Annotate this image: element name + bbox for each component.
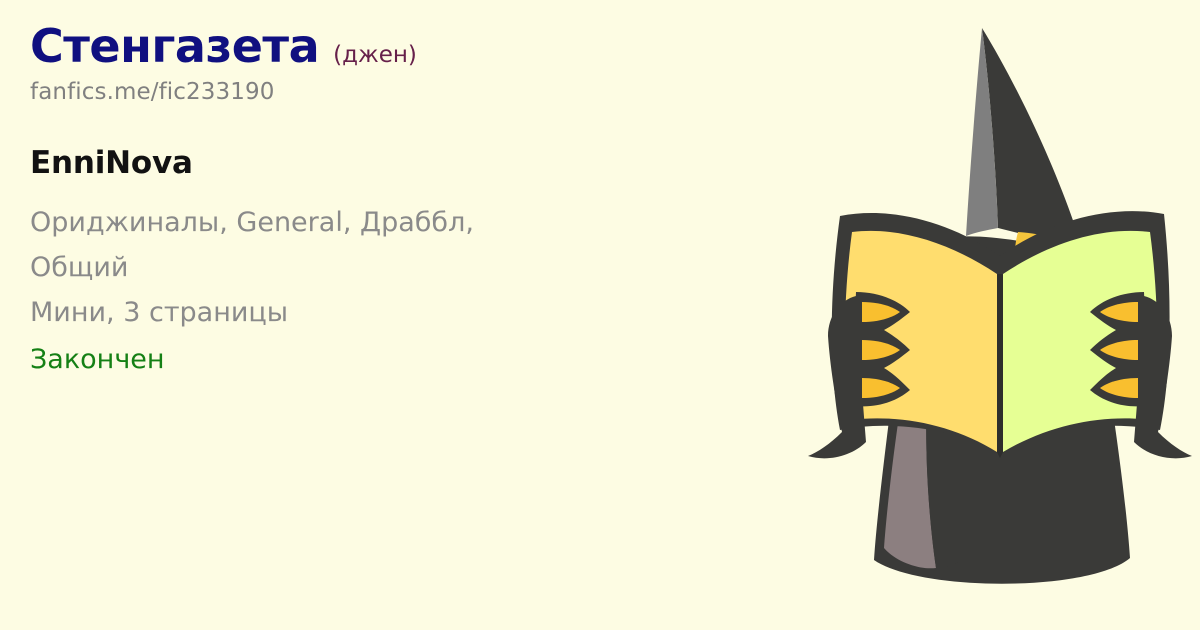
- fic-preview-card: Стенгазета (джен) fanfics.me/fic233190 E…: [0, 0, 1200, 630]
- title-row: Стенгазета (джен): [30, 22, 790, 70]
- book-spine: [997, 274, 1003, 458]
- wizard-reading-book-illustration: [800, 0, 1200, 630]
- fic-rating-label: (джен): [333, 44, 417, 67]
- status-badge: Закончен: [30, 342, 790, 378]
- fic-category-line: Общий: [30, 250, 702, 286]
- fic-size-line: Мини, 3 страницы: [30, 295, 702, 331]
- fic-author[interactable]: EnniNova: [30, 145, 790, 181]
- fic-genres-line: Ориджиналы, General, Драббл,: [30, 205, 702, 241]
- page-title: Стенгазета: [30, 22, 319, 70]
- fic-url[interactable]: fanfics.me/fic233190: [30, 79, 790, 105]
- fic-text-column: Стенгазета (джен) fanfics.me/fic233190 E…: [30, 22, 790, 378]
- fic-meta-block: Ориджиналы, General, Драббл, Общий Мини,…: [30, 205, 790, 378]
